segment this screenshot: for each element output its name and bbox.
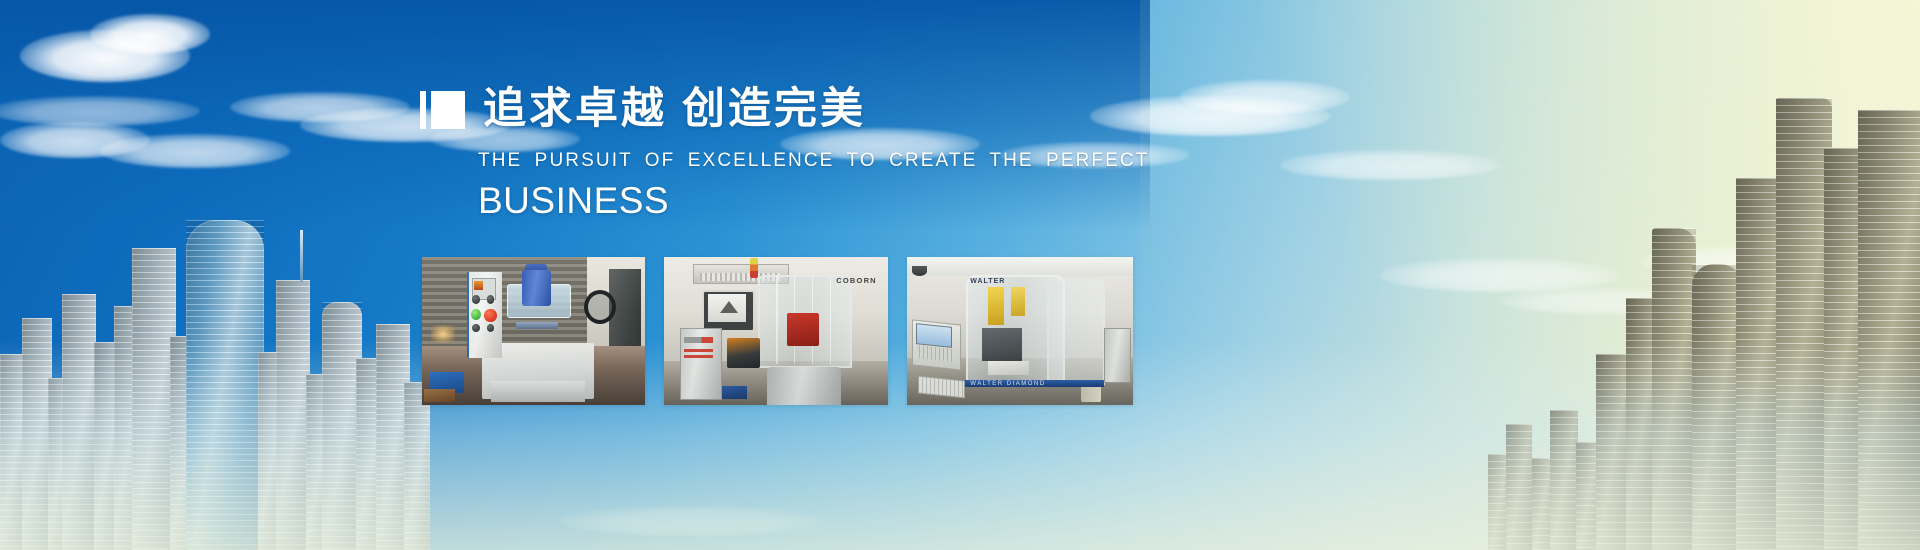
green-button-icon	[471, 309, 481, 320]
sky-right-gradient	[1140, 0, 1920, 550]
cloud-icon	[1640, 246, 1820, 276]
signal-tower-icon	[750, 258, 758, 277]
headline-chinese: 追求卓越 创造完美	[483, 88, 866, 131]
photo-brand-stripe-label: WALTER DIAMOND	[970, 381, 1045, 387]
cloud-icon	[90, 14, 210, 54]
logo-mark-icon	[420, 91, 465, 129]
cityscape-right	[1480, 80, 1920, 550]
cloud-icon	[100, 134, 290, 168]
cloud-icon	[560, 506, 820, 536]
cloud-icon	[1180, 80, 1350, 114]
subtitle-english: THE PURSUIT OF EXCELLENCE TO CREATE THE …	[478, 151, 1140, 170]
hero-banner: 追求卓越 创造完美 THE PURSUIT OF EXCELLENCE TO C…	[0, 0, 1920, 550]
photo-brand-label: COBORN	[836, 276, 877, 285]
logo-bar-icon	[420, 91, 426, 129]
emergency-stop-icon	[484, 309, 496, 322]
headline-block: 追求卓越 创造完美 THE PURSUIT OF EXCELLENCE TO C…	[420, 88, 1140, 219]
cloud-icon	[1280, 150, 1500, 180]
cloud-icon	[230, 92, 410, 122]
cloud-icon	[1380, 258, 1620, 292]
photo-coborn-machine[interactable]: COBORN	[664, 257, 888, 405]
subtitle-business-word: BUSINESS	[478, 182, 1140, 219]
photo-walter-machine[interactable]: WALTER DIAMOND WALTER	[907, 257, 1133, 405]
headline-row: 追求卓越 创造完美	[420, 88, 1140, 131]
photo-brand-label: WALTER	[970, 278, 1005, 285]
cloud-icon	[20, 30, 190, 82]
photo-strip: COBORN WALTER DIAMOND WALTER	[422, 257, 1133, 405]
cloud-icon	[0, 96, 200, 126]
photo-edm-grinder[interactable]	[422, 257, 645, 405]
cloud-icon	[1500, 288, 1700, 314]
logo-square-icon	[431, 91, 465, 129]
cityscape-left	[0, 160, 430, 550]
cloud-icon	[0, 122, 150, 158]
